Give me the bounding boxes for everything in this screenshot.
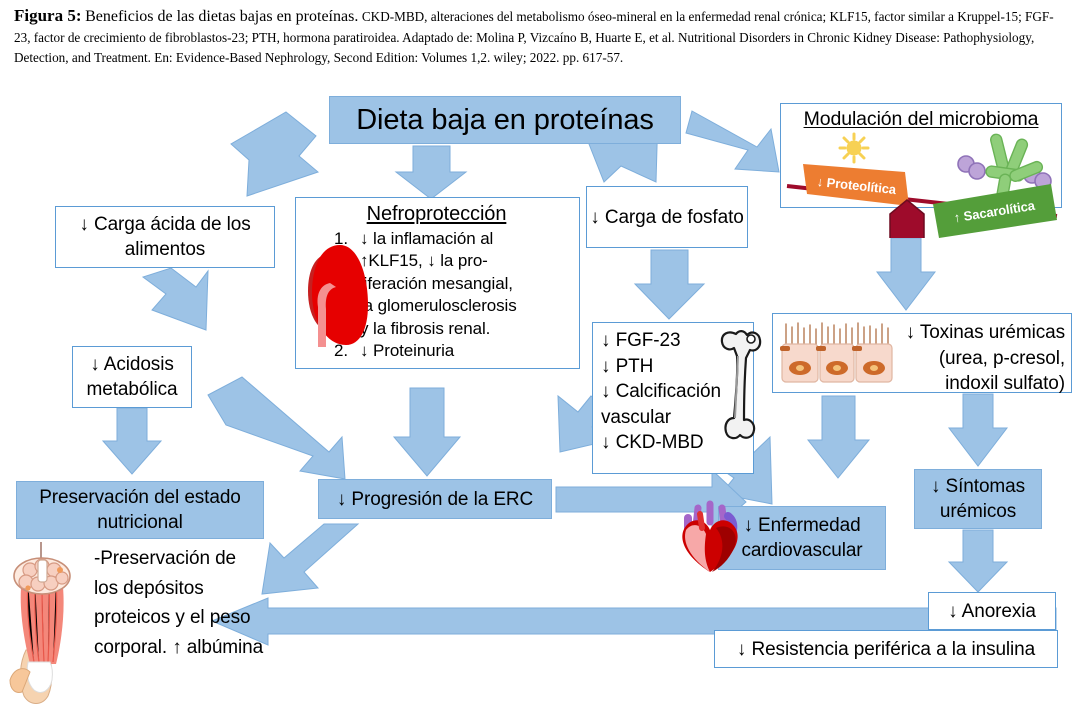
arrow-acid-to-acidosis bbox=[143, 268, 208, 330]
nutritional-note: -Preservación de los depósitos proteicos… bbox=[16, 540, 264, 715]
ckd-progression-box: ↓ Progresión de la ERC bbox=[318, 479, 552, 519]
arrow-acidosis-to-erc bbox=[208, 377, 345, 479]
vascular-line: vascular bbox=[601, 405, 753, 431]
item-text: ↓ la inflamación al bbox=[360, 228, 571, 250]
toxins-line: (urea, p-cresol, bbox=[773, 346, 1065, 372]
item-number: 1. bbox=[334, 228, 360, 250]
fulcrum-icon bbox=[890, 200, 924, 238]
cardiovascular-disease-box: ↓ Enfermedad cardiovascular bbox=[718, 506, 886, 570]
arrow-title-to-nefro bbox=[396, 146, 466, 199]
acid-load-box: ↓ Carga ácida de los alimentos bbox=[55, 206, 275, 268]
nephroprotection-title: Nefroprotección bbox=[296, 202, 571, 227]
list-item: la glomerulosclerosis bbox=[296, 295, 571, 317]
anorexia-box: ↓ Anorexia bbox=[928, 592, 1056, 630]
sun-icon bbox=[840, 134, 868, 162]
figure-canvas: Figura 5: Beneficios de las dietas bajas… bbox=[0, 0, 1080, 720]
arrow-title-to-acid bbox=[231, 112, 318, 196]
nephroprotection-box: Nefroprotección 1. ↓ la inflamación al ↑… bbox=[295, 197, 580, 369]
title-box: Dieta baja en proteínas bbox=[329, 96, 681, 144]
list-item: liferación mesangial, bbox=[296, 273, 571, 295]
proteolytic-plate: ↓ Proteolítica bbox=[803, 164, 909, 206]
arrow-toxins-to-cardio bbox=[808, 396, 869, 478]
uremic-toxins-box: ↓ Toxinas urémicas (urea, p-cresol, indo… bbox=[772, 313, 1072, 393]
arrow-symptoms-to-anorexia bbox=[949, 530, 1007, 592]
saccharolytic-plate: ↑ Sacarolítica bbox=[933, 184, 1057, 238]
insulin-resistance-box: ↓ Resistencia periférica a la insulina bbox=[714, 630, 1058, 668]
arrow-toxins-to-symptoms bbox=[949, 394, 1007, 466]
list-item: 1. ↓ la inflamación al bbox=[296, 228, 571, 250]
arrow-microbiome-to-toxins bbox=[877, 238, 935, 310]
toxins-line: ↓ Toxinas urémicas bbox=[773, 320, 1065, 346]
item-text: ↓ Proteinuria bbox=[360, 340, 571, 362]
arrow-erc-to-nutritional bbox=[262, 524, 358, 594]
item-number: 2. bbox=[334, 340, 360, 362]
list-item: 2. ↓ Proteinuria bbox=[296, 340, 571, 362]
microbiome-modulation-box: Modulación del microbioma bbox=[780, 103, 1062, 208]
nephroprotection-list: 1. ↓ la inflamación al ↑KLF15, ↓ la pro-… bbox=[296, 228, 571, 362]
list-item: ↑KLF15, ↓ la pro- bbox=[296, 250, 571, 272]
fgf-line: ↓ FGF-23 bbox=[601, 328, 753, 354]
pth-line: ↓ PTH bbox=[601, 354, 753, 380]
arrow-nefro-to-erc bbox=[394, 388, 460, 476]
uremic-symptoms-box: ↓ Síntomas urémicos bbox=[914, 469, 1042, 529]
list-item: y la fibrosis renal. bbox=[296, 318, 571, 340]
ckdmbd-line: ↓ CKD-MBD bbox=[601, 430, 753, 456]
calcification-line: ↓ Calcificación bbox=[601, 379, 753, 405]
toxins-line: indoxil sulfato) bbox=[773, 371, 1065, 397]
metabolic-acidosis-box: ↓ Acidosis metabólica bbox=[72, 346, 192, 408]
arrow-title-to-microbiome bbox=[686, 111, 779, 172]
phosphate-load-box: ↓ Carga de fosfato bbox=[586, 186, 748, 248]
arrow-acidosis-to-nutritional bbox=[103, 408, 161, 474]
nutritional-preservation-box: Preservación del estado nutricional bbox=[16, 481, 264, 539]
fgf-ckdmbd-box: ↓ FGF-23 ↓ PTH ↓ Calcificación vascular … bbox=[592, 322, 754, 474]
arrow-phosphate-to-fgf bbox=[635, 250, 704, 319]
microbiome-balance-graphic: ↓ Proteolítica ↑ Sacarolítica bbox=[781, 128, 1063, 238]
